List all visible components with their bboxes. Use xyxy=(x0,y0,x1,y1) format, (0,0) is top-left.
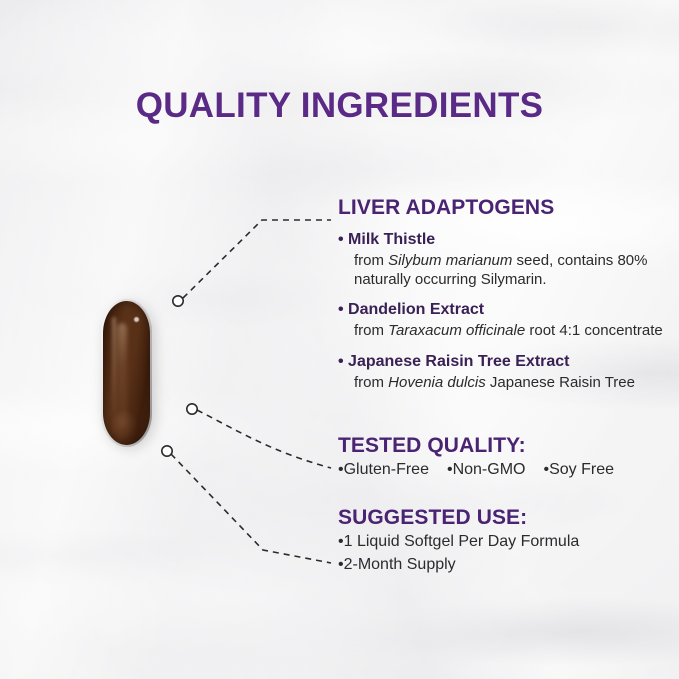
liver-adaptogens-heading: LIVER ADAPTOGENS xyxy=(338,196,670,219)
capsule-bottom-glow xyxy=(113,411,137,441)
ingredient-description: from Silybum marianum seed, contains 80%… xyxy=(338,251,670,289)
leader-line-suggested-use xyxy=(171,454,331,563)
desc-latin-name: Silybum marianum xyxy=(388,252,512,269)
ingredient-japanese-raisin-tree-extract: • Japanese Raisin Tree Extract from Hove… xyxy=(338,352,670,392)
ingredient-name: • Milk Thistle xyxy=(338,230,670,250)
ingredient-description: from Hovenia dulcis Japanese Raisin Tree xyxy=(338,373,670,392)
section-liver-adaptogens: LIVER ADAPTOGENS • Milk Thistle from Sil… xyxy=(338,196,670,392)
leader-dot-tested-quality xyxy=(187,404,197,414)
desc-prefix: from xyxy=(354,252,388,269)
ingredients-column: LIVER ADAPTOGENS • Milk Thistle from Sil… xyxy=(338,196,670,575)
desc-suffix: root 4:1 concentrate xyxy=(525,322,663,339)
desc-prefix: from xyxy=(354,374,388,391)
leader-line-liver-adaptogens xyxy=(183,220,331,298)
ingredient-name: • Dandelion Extract xyxy=(338,300,670,320)
quality-ingredients-infographic: QUALITY INGREDIENTS LIVER ADAPTOGENS • M… xyxy=(0,0,679,679)
leader-dot-suggested-use xyxy=(162,446,172,456)
capsule-body xyxy=(103,301,150,445)
badge-gluten-free: •Gluten-Free xyxy=(338,461,429,478)
leader-dot-liver-adaptogens xyxy=(173,296,183,306)
ingredient-dandelion-extract: • Dandelion Extract from Taraxacum offic… xyxy=(338,300,670,340)
desc-suffix: Japanese Raisin Tree xyxy=(486,374,635,391)
softgel-capsule-image xyxy=(99,297,157,450)
suggested-use-heading: SUGGESTED USE: xyxy=(338,506,670,529)
capsule-specular-dot xyxy=(134,317,139,322)
ingredient-milk-thistle: • Milk Thistle from Silybum marianum see… xyxy=(338,230,670,289)
ingredient-name: • Japanese Raisin Tree Extract xyxy=(338,352,670,372)
tested-quality-heading: TESTED QUALITY: xyxy=(338,434,670,457)
badge-non-gmo: •Non-GMO xyxy=(447,461,526,478)
badge-soy-free: •Soy Free xyxy=(543,461,614,478)
suggested-use-line: •2-Month Supply xyxy=(338,554,670,575)
tested-quality-items: •Gluten-Free•Non-GMO•Soy Free xyxy=(338,460,670,481)
leader-line-tested-quality xyxy=(197,410,331,468)
ingredient-description: from Taraxacum officinale root 4:1 conce… xyxy=(338,321,670,340)
suggested-use-line: •1 Liquid Softgel Per Day Formula xyxy=(338,531,670,552)
page-title: QUALITY INGREDIENTS xyxy=(0,86,679,126)
desc-prefix: from xyxy=(354,322,388,339)
desc-latin-name: Taraxacum officinale xyxy=(388,322,525,339)
section-suggested-use: SUGGESTED USE: •1 Liquid Softgel Per Day… xyxy=(338,506,670,575)
desc-latin-name: Hovenia dulcis xyxy=(388,374,486,391)
section-tested-quality: TESTED QUALITY: •Gluten-Free•Non-GMO•Soy… xyxy=(338,434,670,481)
